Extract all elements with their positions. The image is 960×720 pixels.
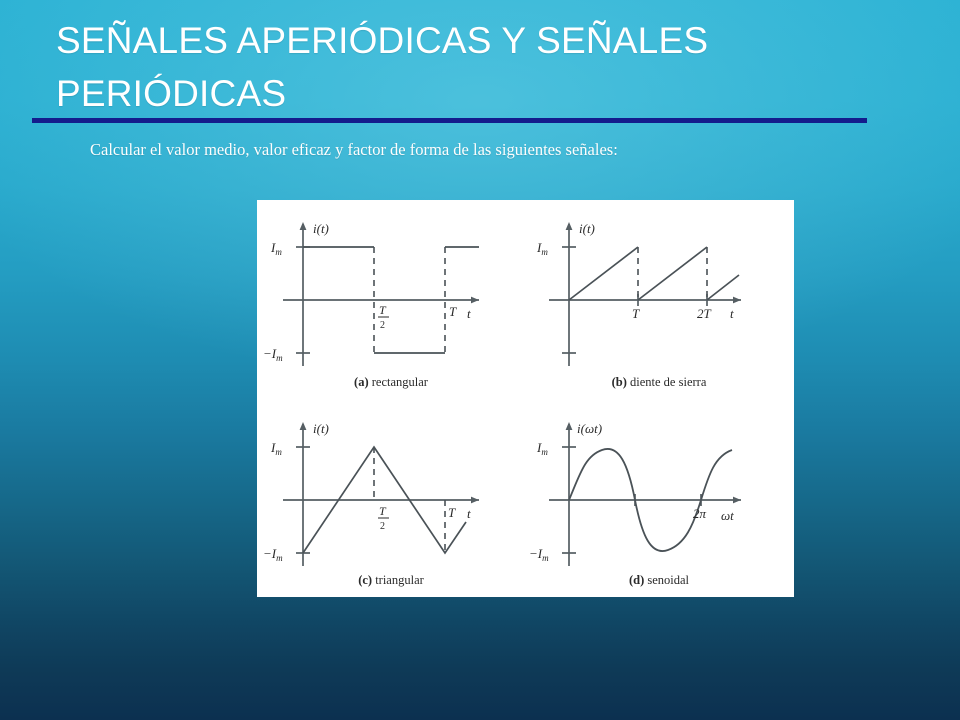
x-tick-label-2pi-d: 2π xyxy=(693,506,707,521)
chart-caption-tag-a: (a) xyxy=(354,375,369,389)
title-block: Señales aperiódicas y señales periódicas xyxy=(56,14,876,120)
x-axis-label-a: t xyxy=(467,306,471,321)
svg-text:T: T xyxy=(379,504,387,518)
chart-caption-tag-c: (c) xyxy=(358,573,372,587)
chart-sinusoidal: i(ωt) ωt Im −Im 2π (d) senoidal xyxy=(525,398,793,596)
chart-caption-a: (a) rectangular xyxy=(257,375,525,390)
svg-text:2: 2 xyxy=(380,320,385,331)
x-axis-label-c: t xyxy=(467,506,471,521)
x-axis-label-b: t xyxy=(730,306,734,321)
y-tick-label-top-a: Im xyxy=(270,240,282,257)
chart-caption-text-a: rectangular xyxy=(372,375,428,389)
x-tick-label-T-b: T xyxy=(632,306,640,321)
svg-text:2: 2 xyxy=(380,521,385,532)
wave-b-ramp-1 xyxy=(569,247,638,300)
slide-canvas: Señales aperiódicas y señales periódicas… xyxy=(0,0,960,720)
x-tick-label-half-period-a: T 2 xyxy=(378,303,389,331)
y-axis-arrow-a xyxy=(300,222,307,230)
y-axis-label-d: i(ωt) xyxy=(577,421,602,436)
wave-b-ramp-2 xyxy=(638,247,707,300)
wave-b-ramp-3 xyxy=(707,275,739,300)
y-axis-arrow-b xyxy=(566,222,573,230)
chart-caption-b: (b) diente de sierra xyxy=(525,375,793,390)
chart-d-svg: i(ωt) ωt Im −Im 2π xyxy=(525,398,793,596)
chart-caption-text-b: diente de sierra xyxy=(630,375,706,389)
y-axis-label-b: i(t) xyxy=(579,221,595,236)
y-tick-label-bottom-c: −Im xyxy=(263,546,283,563)
x-tick-label-period-c: T xyxy=(448,505,456,520)
y-tick-label-top-b: Im xyxy=(536,240,548,257)
title-divider xyxy=(32,118,867,123)
x-axis-arrow-c xyxy=(471,497,479,504)
x-axis-arrow-b xyxy=(733,297,741,304)
x-axis-label-d: ωt xyxy=(721,508,734,523)
chart-rectangular: i(t) t Im −Im T 2 T (a) rectangular xyxy=(257,200,525,398)
y-tick-label-bottom-a: −Im xyxy=(263,346,283,363)
chart-caption-text-c: triangular xyxy=(375,573,424,587)
x-tick-label-2T-b: 2T xyxy=(697,306,712,321)
chart-sawtooth: i(t) t Im T 2T (b) diente de sierra xyxy=(525,200,793,398)
x-axis-arrow-a xyxy=(471,297,479,304)
chart-caption-tag-d: (d) xyxy=(629,573,644,587)
x-axis-arrow-d xyxy=(733,497,741,504)
x-tick-label-half-period-c: T 2 xyxy=(378,504,389,532)
y-axis-label-a: i(t) xyxy=(313,221,329,236)
chart-caption-c: (c) triangular xyxy=(257,573,525,588)
page-title: Señales aperiódicas y señales periódicas xyxy=(56,14,876,120)
x-tick-label-period-a: T xyxy=(449,304,457,319)
y-axis-label-c: i(t) xyxy=(313,421,329,436)
chart-triangular: i(t) t Im −Im T 2 T (c) triangular xyxy=(257,398,525,596)
chart-caption-text-d: senoidal xyxy=(647,573,689,587)
chart-b-svg: i(t) t Im T 2T xyxy=(525,200,793,398)
chart-caption-tag-b: (b) xyxy=(612,375,627,389)
y-axis-arrow-d xyxy=(566,422,573,430)
chart-caption-d: (d) senoidal xyxy=(525,573,793,588)
svg-text:T: T xyxy=(379,303,387,317)
instruction-text: Calcular el valor medio, valor eficaz y … xyxy=(90,139,830,160)
y-tick-label-top-d: Im xyxy=(536,440,548,457)
y-tick-label-top-c: Im xyxy=(270,440,282,457)
chart-c-svg: i(t) t Im −Im T 2 T xyxy=(257,398,525,596)
y-axis-arrow-c xyxy=(300,422,307,430)
waveform-figure-panel: i(t) t Im −Im T 2 T (a) rectangular xyxy=(257,200,794,597)
chart-a-svg: i(t) t Im −Im T 2 T xyxy=(257,200,525,398)
y-tick-label-bottom-d: −Im xyxy=(529,546,549,563)
